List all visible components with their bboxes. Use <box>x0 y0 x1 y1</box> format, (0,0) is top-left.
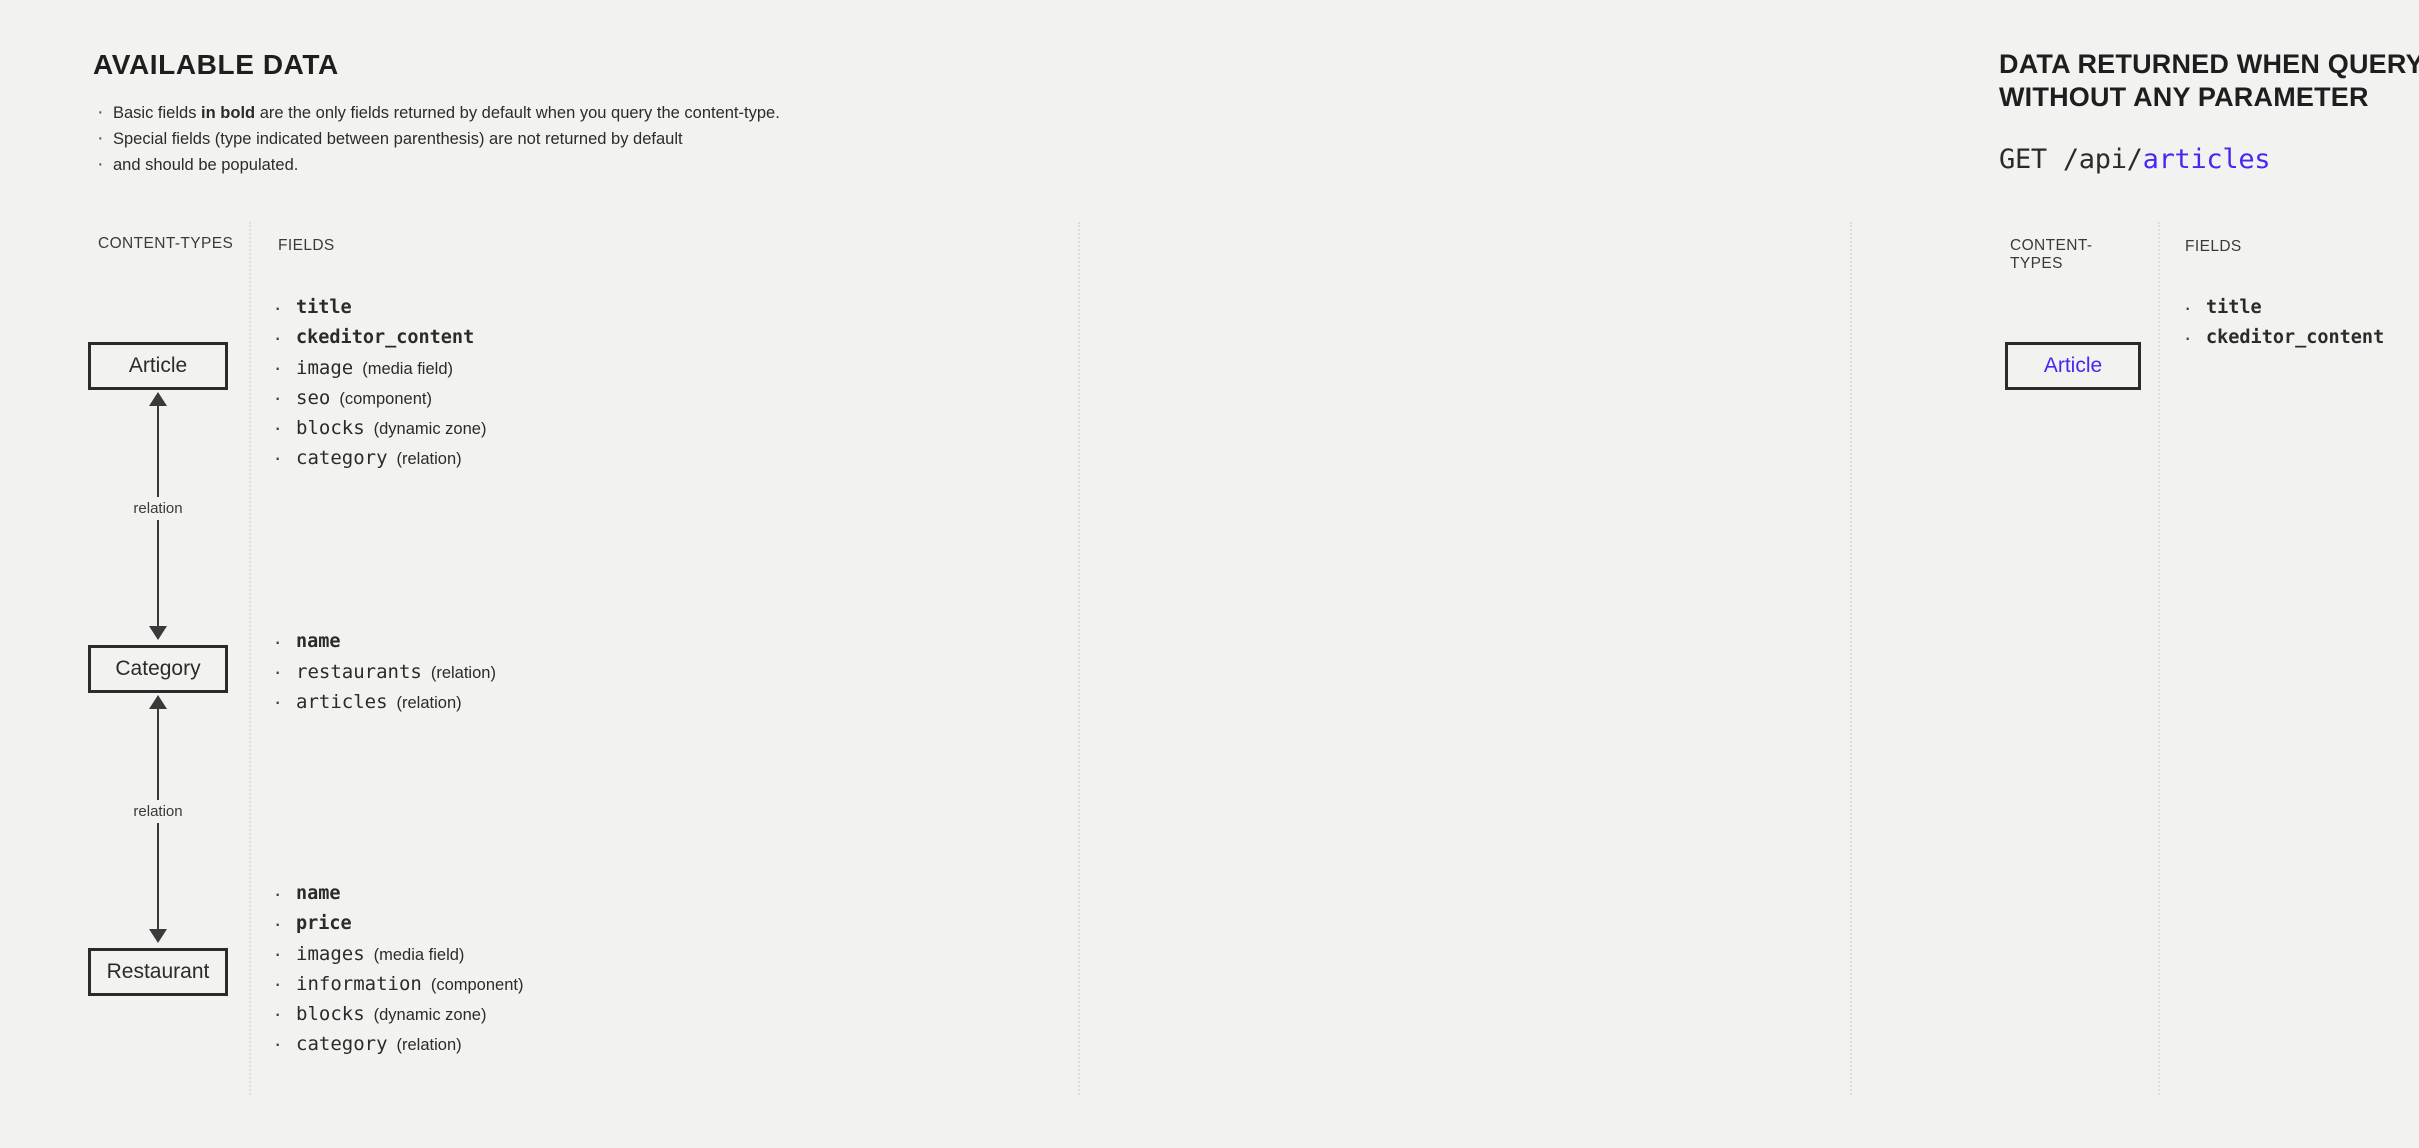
arrow-head-down-icon <box>149 929 167 943</box>
panel1-bullet-list: Basic fields in bold are the only fields… <box>95 100 855 178</box>
field-row: articles(relation) <box>270 687 496 717</box>
diagram-page: AVAILABLE DATA Basic fields in bold are … <box>0 0 2419 1148</box>
field-row: category(relation) <box>270 443 486 473</box>
fields-list-restaurant: name price images(media field) informati… <box>270 879 523 1059</box>
relation-arrow-category-restaurant: relation <box>125 695 191 943</box>
field-row: price <box>270 909 523 939</box>
field-row: name <box>270 879 523 909</box>
content-type-label: Article <box>129 354 187 378</box>
field-row: image(media field) <box>270 353 486 383</box>
field-row: blocks(dynamic zone) <box>270 999 523 1029</box>
panel-query-no-param: DATA RETURNED WHEN QUERYING ARTICLES WIT… <box>1080 0 1700 1148</box>
arrow-head-up-icon <box>149 695 167 709</box>
arrow-head-down-icon <box>149 626 167 640</box>
arrow-head-up-icon <box>149 392 167 406</box>
panel1-inner-divider <box>249 222 251 1095</box>
relation-label: relation <box>126 497 189 520</box>
field-row: blocks(dynamic zone) <box>270 413 486 443</box>
field-row: name <box>270 627 496 657</box>
relation-label: relation <box>126 800 189 823</box>
field-row: restaurants(relation) <box>270 657 496 687</box>
content-type-box-category[interactable]: Category <box>88 645 228 693</box>
field-row: title <box>270 293 486 323</box>
fields-list-category: name restaurants(relation) articles(rela… <box>270 627 496 717</box>
panel-query-populate: DATA RETURNED WHEN QUERYING ARTICLES AND… <box>1700 0 2419 1148</box>
panel-available-data: AVAILABLE DATA Basic fields in bold are … <box>0 0 1080 1148</box>
fields-list-article: title ckeditor_content image(media field… <box>270 293 486 473</box>
field-row: information(component) <box>270 969 523 999</box>
panel1-label-content-types: CONTENT-TYPES <box>98 235 233 253</box>
list-item-continuation: and should be populated. <box>95 152 855 178</box>
content-type-label: Category <box>115 657 200 681</box>
field-row: images(media field) <box>270 939 523 969</box>
content-type-box-article[interactable]: Article <box>88 342 228 390</box>
content-type-box-restaurant[interactable]: Restaurant <box>88 948 228 996</box>
content-type-label: Restaurant <box>107 960 210 984</box>
list-item: Special fields (type indicated between p… <box>95 126 855 152</box>
field-row: seo(component) <box>270 383 486 413</box>
relation-arrow-article-category: relation <box>125 392 191 640</box>
panel1-label-fields: FIELDS <box>278 237 335 255</box>
field-row: category(relation) <box>270 1029 523 1059</box>
panel1-heading: AVAILABLE DATA <box>93 48 893 81</box>
field-row: ckeditor_content <box>270 323 486 353</box>
list-item: Basic fields in bold are the only fields… <box>95 100 855 126</box>
